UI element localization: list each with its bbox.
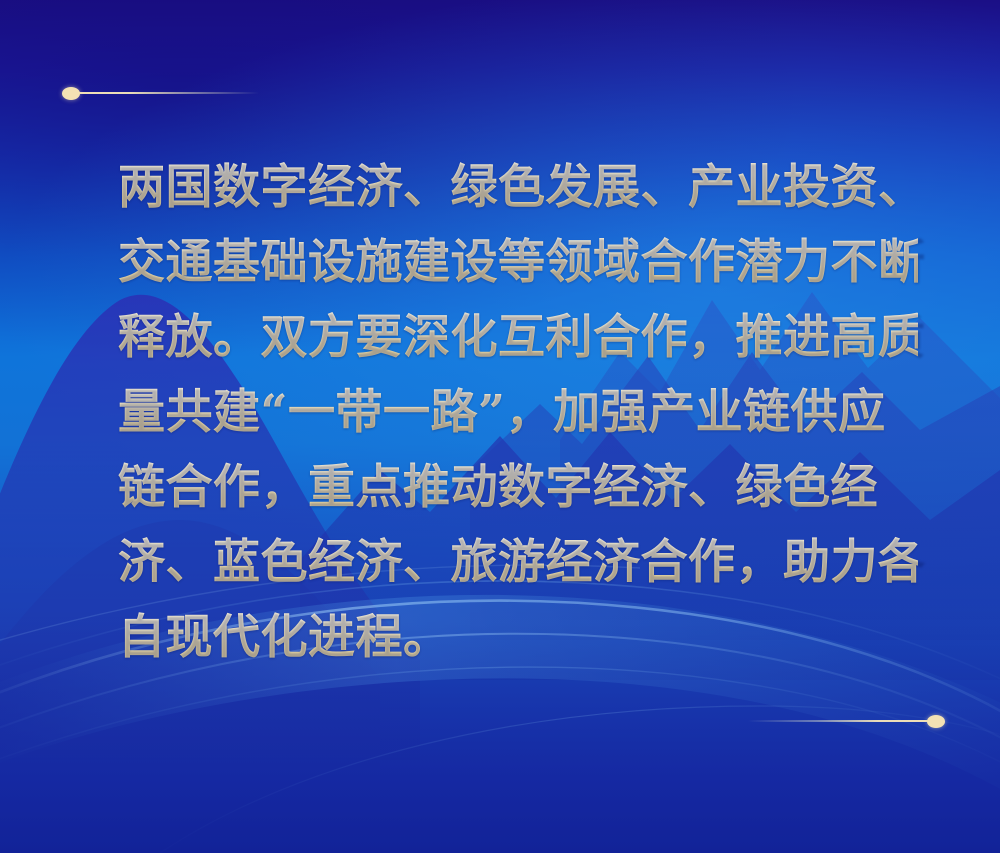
tapered-line-icon — [748, 720, 928, 722]
quote-text-block: 两国数字经济、绿色发展、产业投资、 交通基础设施建设等领域合作潜力不断 释放。双… — [118, 150, 918, 675]
quote-line: 两国数字经济、绿色发展、产业投资、 — [118, 150, 918, 225]
quote-line: 量共建“一带一路”，加强产业链供应 — [118, 375, 918, 450]
quote-slide: 两国数字经济、绿色发展、产业投资、 交通基础设施建设等领域合作潜力不断 释放。双… — [0, 0, 1000, 853]
decorative-rule-top-left — [62, 82, 259, 104]
tapered-line-icon — [79, 92, 259, 94]
quote-line: 释放。双方要深化互利合作，推进高质 — [118, 300, 918, 375]
dot-icon — [62, 87, 80, 100]
quote-line: 链合作，重点推动数字经济、绿色经 — [118, 450, 918, 525]
quote-line: 交通基础设施建设等领域合作潜力不断 — [118, 225, 918, 300]
quote-line: 自现代化进程。 — [118, 600, 918, 675]
quote-line: 济、蓝色经济、旅游经济合作，助力各 — [118, 525, 918, 600]
dot-icon — [927, 715, 945, 728]
decorative-rule-bottom-right — [748, 710, 945, 732]
